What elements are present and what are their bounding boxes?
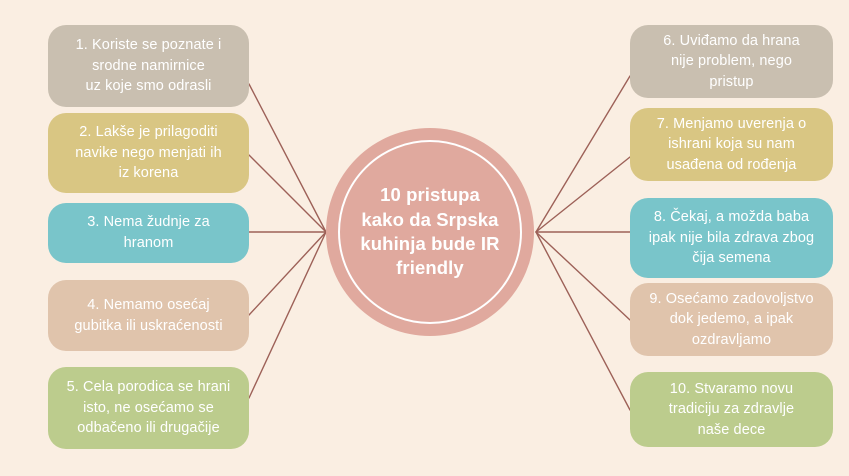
- node-item-7[interactable]: 7. Menjamo uverenja o ishrani koja su na…: [630, 108, 833, 181]
- connector-to-node-2: [249, 155, 326, 232]
- node-item-8[interactable]: 8. Čekaj, a možda baba ipak nije bila zd…: [630, 198, 833, 278]
- node-item-6[interactable]: 6. Uviđamo da hrana nije problem, nego p…: [630, 25, 833, 98]
- node-item-10[interactable]: 10. Stvaramo novu tradiciju za zdravlje …: [630, 372, 833, 447]
- node-item-3[interactable]: 3. Nema žudnje za hranom: [48, 203, 249, 263]
- connector-to-node-5: [249, 232, 326, 398]
- connector-to-node-6: [536, 76, 630, 232]
- connector-to-node-4: [249, 232, 326, 315]
- node-item-4[interactable]: 4. Nemamo osećaj gubitka ili uskraćenost…: [48, 280, 249, 351]
- connector-to-node-7: [536, 157, 630, 232]
- node-item-1[interactable]: 1. Koriste se poznate i srodne namirnice…: [48, 25, 249, 107]
- central-hub: 10 pristupa kako da Srpska kuhinja bude …: [326, 128, 534, 336]
- hub-title: 10 pristupa kako da Srpska kuhinja bude …: [344, 183, 515, 281]
- connector-to-node-9: [536, 232, 630, 320]
- node-item-9[interactable]: 9. Osećamo zadovoljstvo dok jedemo, a ip…: [630, 283, 833, 356]
- node-item-2[interactable]: 2. Lakše je prilagoditi navike nego menj…: [48, 113, 249, 193]
- mindmap-canvas: 10 pristupa kako da Srpska kuhinja bude …: [0, 0, 849, 476]
- node-item-5[interactable]: 5. Cela porodica se hrani isto, ne oseća…: [48, 367, 249, 449]
- connector-to-node-1: [249, 84, 326, 232]
- connector-to-node-10: [536, 232, 630, 410]
